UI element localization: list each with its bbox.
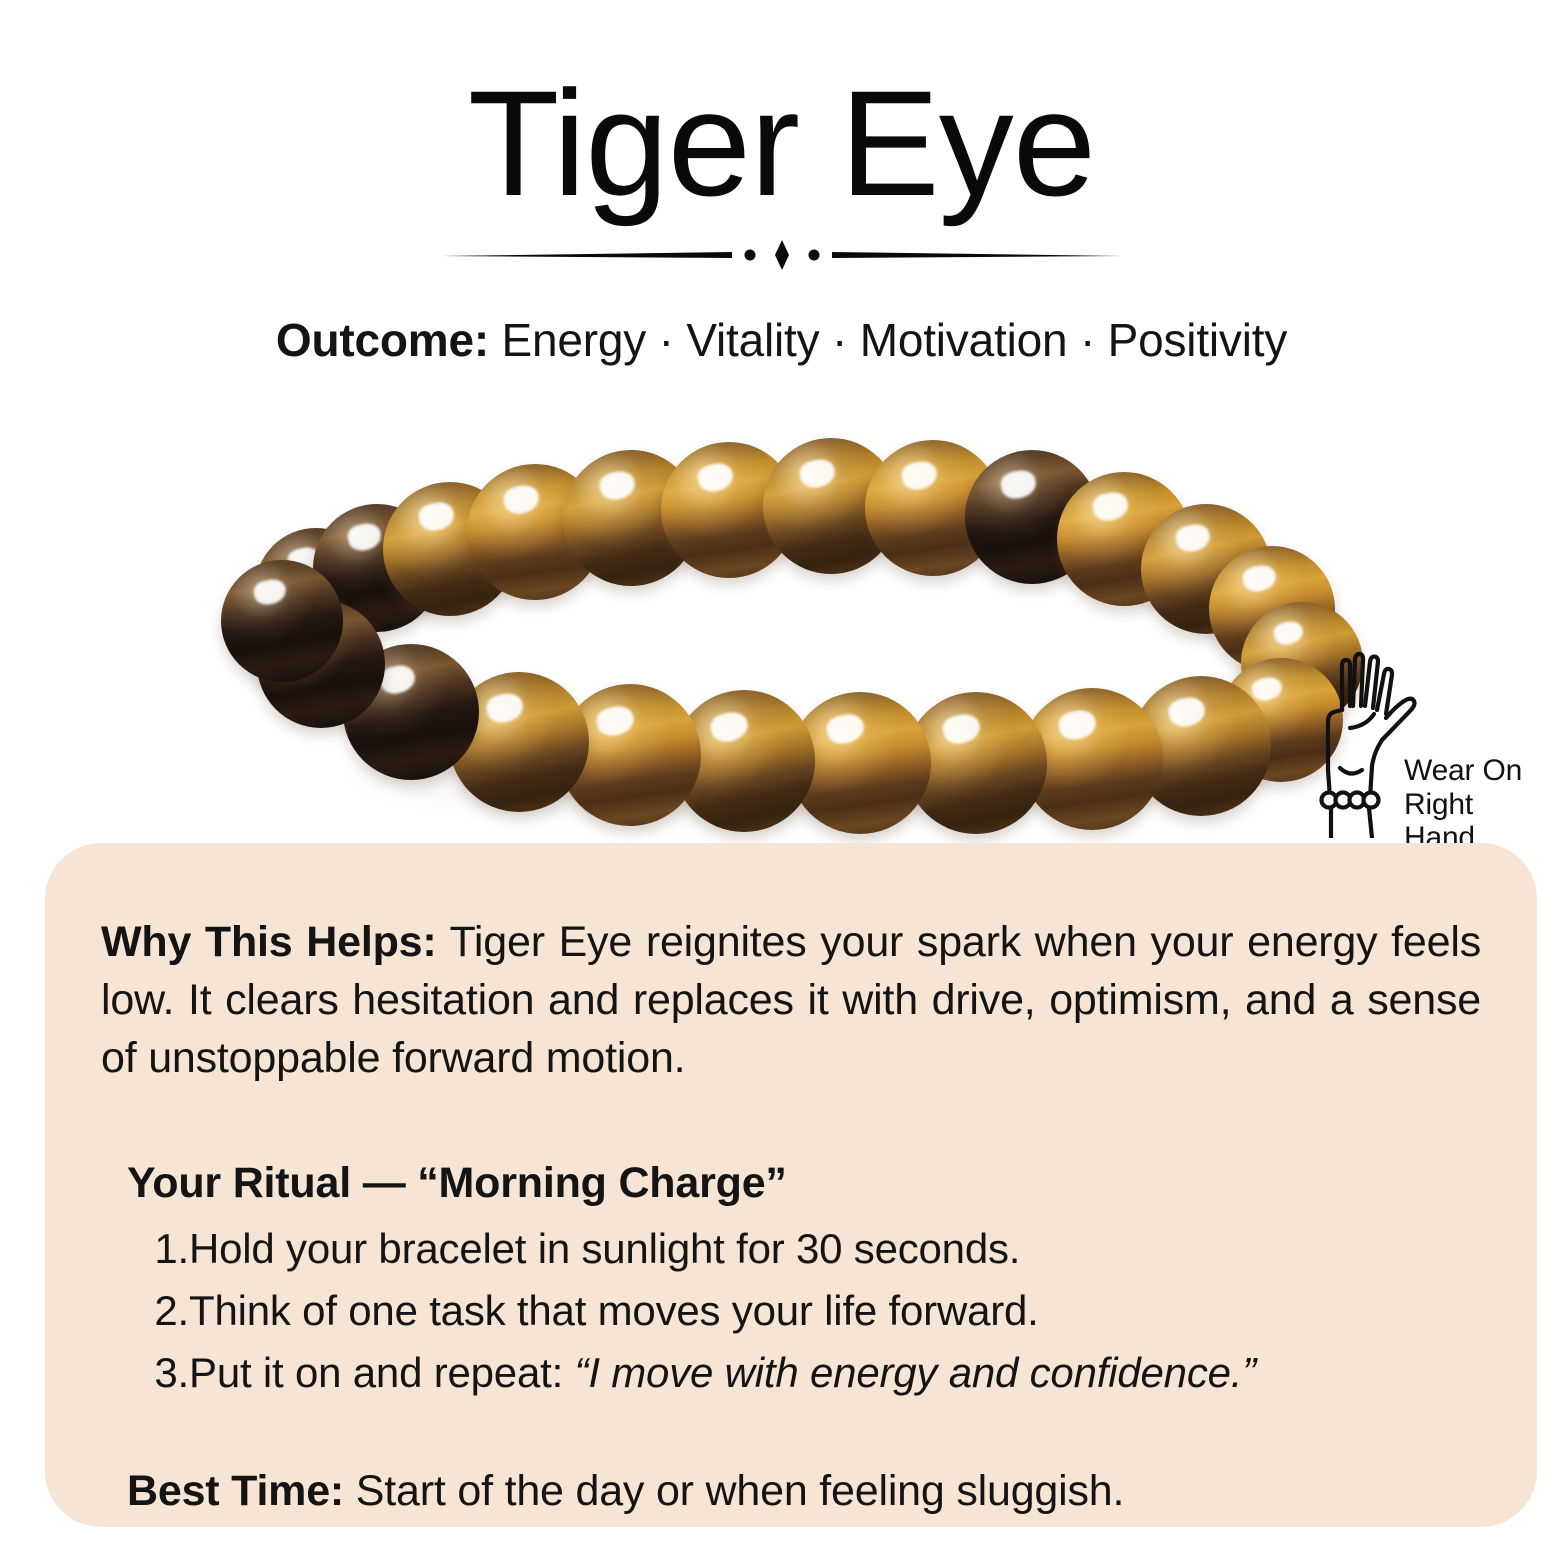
ritual-steps-list: 1. Hold your bracelet in sunlight for 30…: [147, 1218, 1481, 1403]
step-text-main: Put it on and repeat:: [189, 1349, 575, 1396]
step-number: 2.: [147, 1280, 189, 1342]
best-time-label: Best Time:: [127, 1467, 344, 1515]
poster-root: Tiger Eye Outcome: Energy · Vitality · M…: [0, 0, 1563, 1563]
step-text-main: Hold your bracelet in sunlight for 30 se…: [189, 1225, 1020, 1272]
product-image-bracelet: [215, 420, 1345, 840]
wear-on-line1: Wear On: [1404, 754, 1552, 788]
list-item: 2. Think of one task that moves your lif…: [147, 1280, 1481, 1342]
step-number: 3.: [147, 1342, 189, 1404]
best-time-text: Start of the day or when feeling sluggis…: [344, 1467, 1124, 1515]
outcome-value: Energy · Vitality · Motivation · Positiv…: [489, 314, 1287, 366]
step-text: Hold your bracelet in sunlight for 30 se…: [189, 1218, 1481, 1280]
list-item: 3. Put it on and repeat: “I move with en…: [147, 1342, 1481, 1404]
step-affirmation: “I move with energy and confidence.”: [575, 1349, 1257, 1396]
best-time-line: Best Time: Start of the day or when feel…: [127, 1467, 1481, 1516]
outcome-line: Outcome: Energy · Vitality · Motivation …: [0, 312, 1563, 370]
sparkle-diamond-divider-icon: [432, 238, 1132, 272]
ritual-title: Your Ritual — “Morning Charge”: [127, 1159, 1481, 1208]
wear-on-right-hand: Wear On Right Hand: [1312, 648, 1552, 838]
wear-on-text: Wear On Right Hand: [1404, 754, 1552, 855]
info-card: Why This Helps: Tiger Eye reignites your…: [45, 843, 1537, 1527]
step-number: 1.: [147, 1218, 189, 1280]
page-title: Tiger Eye: [0, 62, 1563, 224]
outcome-label: Outcome:: [276, 314, 489, 366]
why-this-helps-paragraph: Why This Helps: Tiger Eye reignites your…: [101, 913, 1481, 1087]
step-text-main: Think of one task that moves your life f…: [189, 1287, 1039, 1334]
page-title-wrap: Tiger Eye: [0, 62, 1563, 224]
bead: [221, 560, 343, 682]
bracelet-beads: [215, 420, 1345, 840]
why-this-helps-label: Why This Helps:: [101, 918, 436, 966]
step-text: Think of one task that moves your life f…: [189, 1280, 1481, 1342]
step-text: Put it on and repeat: “I move with energ…: [189, 1342, 1481, 1404]
list-item: 1. Hold your bracelet in sunlight for 30…: [147, 1218, 1481, 1280]
